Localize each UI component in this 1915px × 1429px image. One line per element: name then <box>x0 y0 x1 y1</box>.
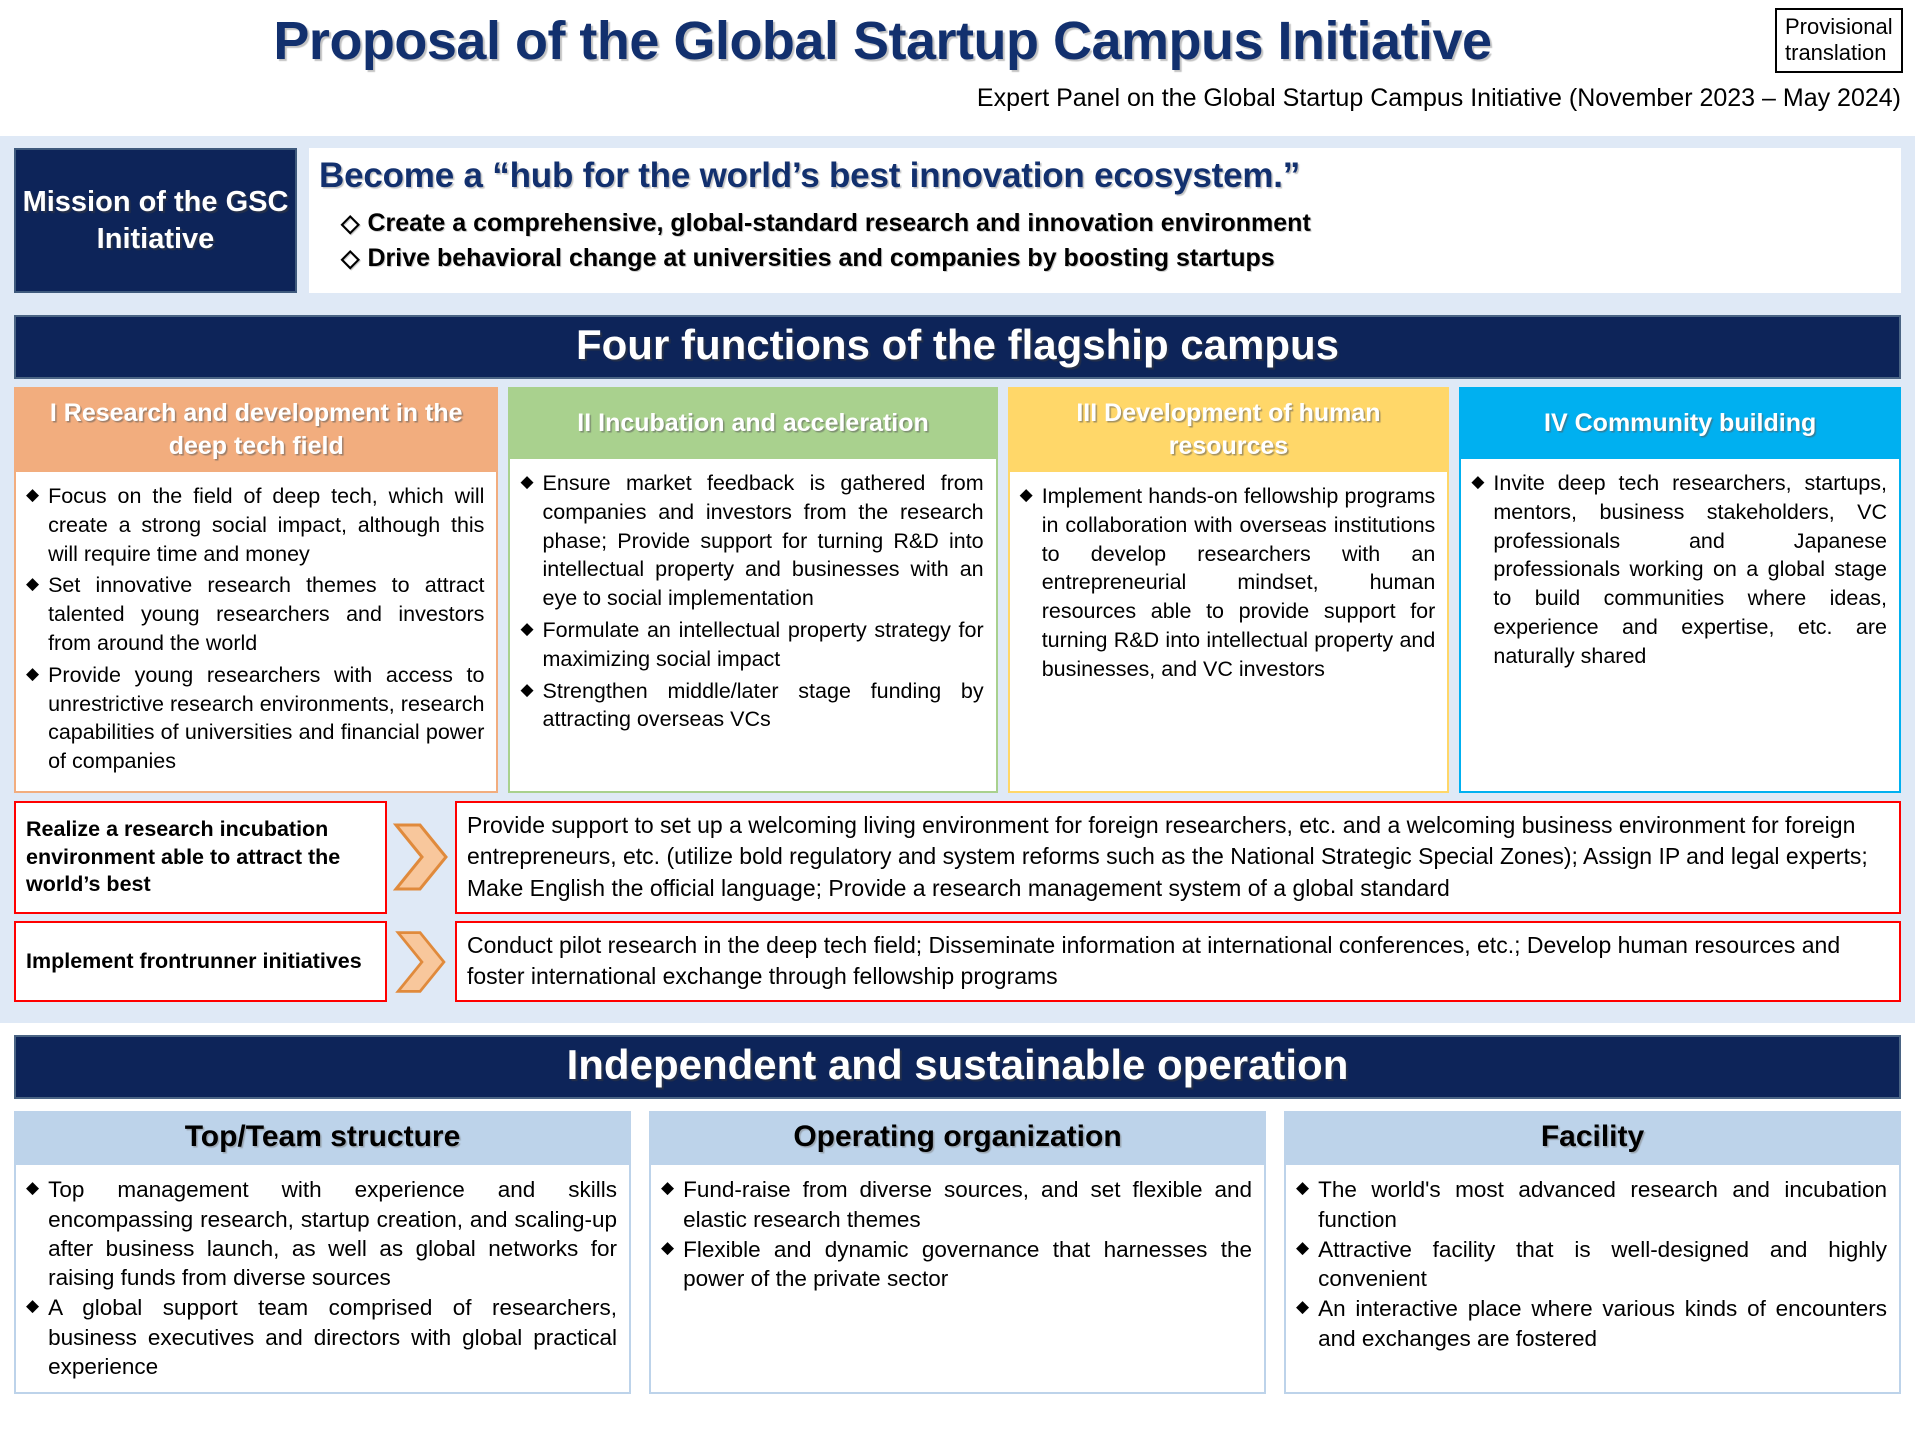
list-item: ◆ Ensure market feedback is gathered fro… <box>520 469 983 613</box>
main-band: Mission of the GSC Initiative Become a “… <box>0 136 1915 1023</box>
operation-column-top-team-title: Top/Team structure <box>14 1111 631 1165</box>
supporting-measure-detail: Provide support to set up a welcoming li… <box>455 801 1901 914</box>
supporting-measure-detail: Conduct pilot research in the deep tech … <box>455 921 1901 1003</box>
list-item: ◆ Formulate an intellectual property str… <box>520 616 983 674</box>
slide-page: Proposal of the Global Startup Campus In… <box>0 0 1915 1429</box>
independent-operation-banner: Independent and sustainable operation <box>14 1035 1901 1099</box>
open-diamond-icon: ◇ <box>341 247 359 271</box>
chevron-right-icon <box>387 801 455 914</box>
filled-diamond-icon: ◆ <box>1020 482 1033 684</box>
provisional-translation-badge: Provisional translation <box>1775 8 1903 73</box>
list-item-text: Top management with experience and skill… <box>48 1175 617 1292</box>
filled-diamond-icon: ◆ <box>26 661 39 776</box>
page-title: Proposal of the Global Startup Campus In… <box>0 10 1915 72</box>
independent-operation-section: Independent and sustainable operation To… <box>0 1023 1915 1404</box>
filled-diamond-icon: ◆ <box>661 1235 674 1294</box>
mission-bullet: ◇ Drive behavioral change at universitie… <box>341 241 1891 276</box>
list-item-text: A global support team comprised of resea… <box>48 1293 617 1381</box>
list-item: ◆ Top management with experience and ski… <box>26 1175 617 1292</box>
operation-column-facility-body: ◆ The world's most advanced research and… <box>1284 1165 1901 1394</box>
supporting-measure-label: Realize a research incubation environmen… <box>14 801 387 914</box>
function-column-3-body: ◆ Implement hands-on fellowship programs… <box>1008 472 1450 793</box>
function-column-1-body: ◆ Focus on the field of deep tech, which… <box>14 472 498 793</box>
four-functions-columns: I Research and development in the deep t… <box>14 387 1901 793</box>
four-functions-section: Four functions of the flagship campus I … <box>14 315 1901 1002</box>
mission-bullet-text: Create a comprehensive, global-standard … <box>367 206 1310 241</box>
list-item-text: An interactive place where various kinds… <box>1318 1294 1887 1353</box>
chevron-right-icon <box>387 921 455 1003</box>
list-item-text: Formulate an intellectual property strat… <box>543 616 984 674</box>
filled-diamond-icon: ◆ <box>26 482 39 568</box>
list-item: ◆ Implement hands-on fellowship programs… <box>1020 482 1436 684</box>
mission-label: Mission of the GSC Initiative <box>14 148 297 293</box>
function-column-2: II Incubation and acceleration ◆ Ensure … <box>508 387 997 793</box>
supporting-measures-section: Realize a research incubation environmen… <box>14 801 1901 1002</box>
list-item: ◆ Strengthen middle/later stage funding … <box>520 677 983 735</box>
mission-section: Mission of the GSC Initiative Become a “… <box>14 148 1901 293</box>
page-subtitle: Expert Panel on the Global Startup Campu… <box>977 84 1901 113</box>
operation-column-operating-org-body: ◆ Fund-raise from diverse sources, and s… <box>649 1165 1266 1394</box>
list-item: ◆ Invite deep tech researchers, startups… <box>1471 469 1887 671</box>
filled-diamond-icon: ◆ <box>520 677 533 735</box>
operation-column-top-team: Top/Team structure ◆ Top management with… <box>14 1111 631 1394</box>
function-column-1-title: I Research and development in the deep t… <box>14 387 498 472</box>
list-item-text: Attractive facility that is well-designe… <box>1318 1235 1887 1294</box>
four-functions-banner: Four functions of the flagship campus <box>14 315 1901 379</box>
list-item: ◆ An interactive place where various kin… <box>1296 1294 1887 1353</box>
filled-diamond-icon: ◆ <box>26 1293 39 1381</box>
function-column-4: IV Community building ◆ Invite deep tech… <box>1459 387 1901 793</box>
page-header: Proposal of the Global Startup Campus In… <box>0 0 1915 136</box>
list-item-text: Invite deep tech researchers, startups, … <box>1493 469 1887 671</box>
filled-diamond-icon: ◆ <box>26 1175 39 1292</box>
list-item-text: Fund-raise from diverse sources, and set… <box>683 1175 1252 1234</box>
function-column-2-body: ◆ Ensure market feedback is gathered fro… <box>508 459 997 793</box>
open-diamond-icon: ◇ <box>341 212 359 236</box>
mission-bullet-text: Drive behavioral change at universities … <box>367 241 1274 276</box>
list-item: ◆ A global support team comprised of res… <box>26 1293 617 1381</box>
mission-headline: Become a “hub for the world’s best innov… <box>319 156 1891 196</box>
list-item-text: Provide young researchers with access to… <box>48 661 484 776</box>
function-column-4-title: IV Community building <box>1459 387 1901 459</box>
list-item-text: Focus on the field of deep tech, which w… <box>48 482 484 568</box>
operation-column-facility: Facility ◆ The world's most advanced res… <box>1284 1111 1901 1394</box>
list-item: ◆ Fund-raise from diverse sources, and s… <box>661 1175 1252 1234</box>
operation-column-facility-title: Facility <box>1284 1111 1901 1165</box>
list-item: ◆ Flexible and dynamic governance that h… <box>661 1235 1252 1294</box>
filled-diamond-icon: ◆ <box>520 616 533 674</box>
mission-body: Become a “hub for the world’s best innov… <box>309 148 1901 293</box>
list-item-text: Ensure market feedback is gathered from … <box>543 469 984 613</box>
supporting-measure-label: Implement frontrunner initiatives <box>14 921 387 1003</box>
filled-diamond-icon: ◆ <box>1296 1235 1309 1294</box>
operation-column-top-team-body: ◆ Top management with experience and ski… <box>14 1165 631 1394</box>
mission-bullet: ◇ Create a comprehensive, global-standar… <box>341 206 1891 241</box>
filled-diamond-icon: ◆ <box>661 1175 674 1234</box>
supporting-measure-row: Realize a research incubation environmen… <box>14 801 1901 914</box>
filled-diamond-icon: ◆ <box>1471 469 1484 671</box>
list-item: ◆ The world's most advanced research and… <box>1296 1175 1887 1234</box>
list-item: ◆ Attractive facility that is well-desig… <box>1296 1235 1887 1294</box>
list-item-text: Strengthen middle/later stage funding by… <box>543 677 984 735</box>
supporting-measure-row: Implement frontrunner initiatives Conduc… <box>14 921 1901 1003</box>
function-column-1: I Research and development in the deep t… <box>14 387 498 793</box>
filled-diamond-icon: ◆ <box>520 469 533 613</box>
list-item-text: The world's most advanced research and i… <box>1318 1175 1887 1234</box>
filled-diamond-icon: ◆ <box>1296 1294 1309 1353</box>
list-item: ◆ Set innovative research themes to attr… <box>26 571 484 657</box>
list-item: ◆ Provide young researchers with access … <box>26 661 484 776</box>
list-item: ◆ Focus on the field of deep tech, which… <box>26 482 484 568</box>
list-item-text: Implement hands-on fellowship programs i… <box>1042 482 1436 684</box>
operation-column-operating-org-title: Operating organization <box>649 1111 1266 1165</box>
filled-diamond-icon: ◆ <box>1296 1175 1309 1234</box>
function-column-4-body: ◆ Invite deep tech researchers, startups… <box>1459 459 1901 793</box>
function-column-3: III Development of human resources ◆ Imp… <box>1008 387 1450 793</box>
independent-operation-columns: Top/Team structure ◆ Top management with… <box>14 1111 1901 1394</box>
operation-column-operating-org: Operating organization ◆ Fund-raise from… <box>649 1111 1266 1394</box>
list-item-text: Flexible and dynamic governance that har… <box>683 1235 1252 1294</box>
list-item-text: Set innovative research themes to attrac… <box>48 571 484 657</box>
filled-diamond-icon: ◆ <box>26 571 39 657</box>
function-column-2-title: II Incubation and acceleration <box>508 387 997 459</box>
function-column-3-title: III Development of human resources <box>1008 387 1450 472</box>
